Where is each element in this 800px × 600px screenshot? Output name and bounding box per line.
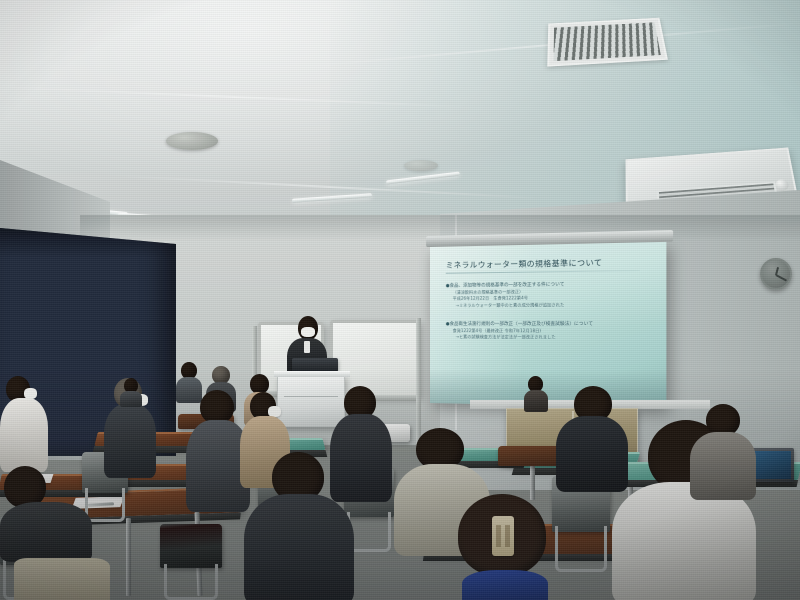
attendee-torso [120,391,142,407]
attendee-front-hairclip [448,494,560,600]
attendee-legs [14,558,110,600]
attendee-head [200,390,234,424]
attendee-front-khaki [244,452,354,600]
ceiling-speaker-icon [166,132,218,150]
attendee-torso [0,502,92,562]
photograph-seminar-room: ミネラルウォーター類の規格基準について ●食品、添加物等の規格基準の一部を改正す… [0,0,800,600]
vent-slats [554,22,661,61]
chair-frame [164,564,219,600]
table-leg [126,518,131,596]
screen-surface: ミネラルウォーター類の規格基準について ●食品、添加物等の規格基準の一部を改正す… [430,242,666,408]
attendee-right-suit [556,386,628,486]
attendee-left-1 [0,376,48,468]
attendee-front-left-khaki [0,466,92,600]
presenter-shirt-collar [304,341,310,353]
attendee-torso [244,494,354,600]
slide-title: ミネラルウォーター類の規格基準について [446,256,656,271]
chair [160,524,222,600]
hair-barrette-icon [492,516,514,556]
wall-clock-icon [760,258,792,290]
slide-title-underline [446,270,640,274]
clock-minute-hand [776,274,787,281]
attendee-torso [462,570,548,600]
slide-block-1: ●食品、添加物等の規格基準の一部を改正する件について （清涼飲料水の規格基準の一… [446,281,656,308]
presenter-laptop [292,358,338,372]
attendee-back-4 [524,376,548,410]
attendee-torso [524,390,548,412]
projection-screen: ミネラルウォーター類の規格基準について ●食品、添加物等の規格基準の一部を改正す… [430,242,666,408]
slide-line: →ミネラルウォーター類中のヒ素の成分規格が追加された [446,301,656,309]
attendee-right-gray [690,404,756,494]
presenter-face-mask [301,327,315,337]
chair-frame [555,526,606,572]
attendee-far-small [120,378,142,404]
attendee-torso [0,398,48,472]
attendee-head [250,374,269,394]
attendee-torso [690,432,756,500]
lectern-top [274,371,350,377]
attendee-torso [556,416,628,492]
ceiling-vent-icon [547,18,668,67]
ceiling-speaker-icon [404,160,438,171]
slide-line: →ヒ素の試験検査方法が法定法が一部改正されました [446,334,656,341]
slide-block-2: ●食品衛生法施行規則の一部改正（一部改正及び検査試験法）について 食発1222第… [446,322,656,342]
chair-back [160,524,222,568]
attendee-torso [104,404,156,478]
